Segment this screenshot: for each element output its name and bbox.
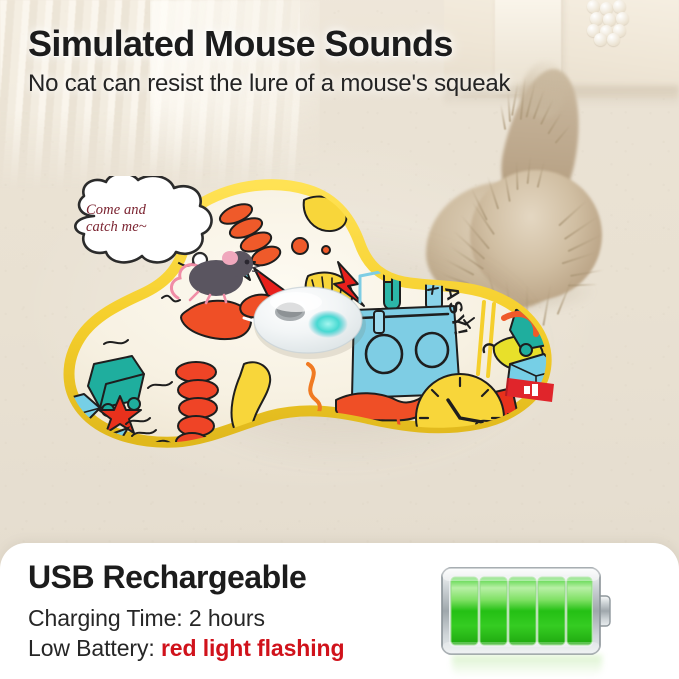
card-title: USB Rechargeable (28, 559, 306, 596)
header-block: Simulated Mouse Sounds No cat can resist… (28, 22, 648, 100)
low-battery-label: Low Battery: (28, 635, 155, 661)
thought-bubble-text: Come andcatch me~ (86, 202, 202, 236)
battery-full-icon (438, 562, 616, 660)
low-battery-row: Low Battery: red light flashing (28, 635, 344, 662)
page-subtitle: No cat can resist the lure of a mouse's … (28, 68, 648, 100)
charging-time-label: Charging Time: 2 hours (28, 605, 265, 632)
low-battery-value: red light flashing (161, 635, 344, 661)
product-feature-image: EASY! (0, 0, 679, 679)
battery-cells (451, 577, 592, 645)
cartoon-mouse (168, 240, 263, 306)
page-title: Simulated Mouse Sounds (28, 22, 648, 66)
